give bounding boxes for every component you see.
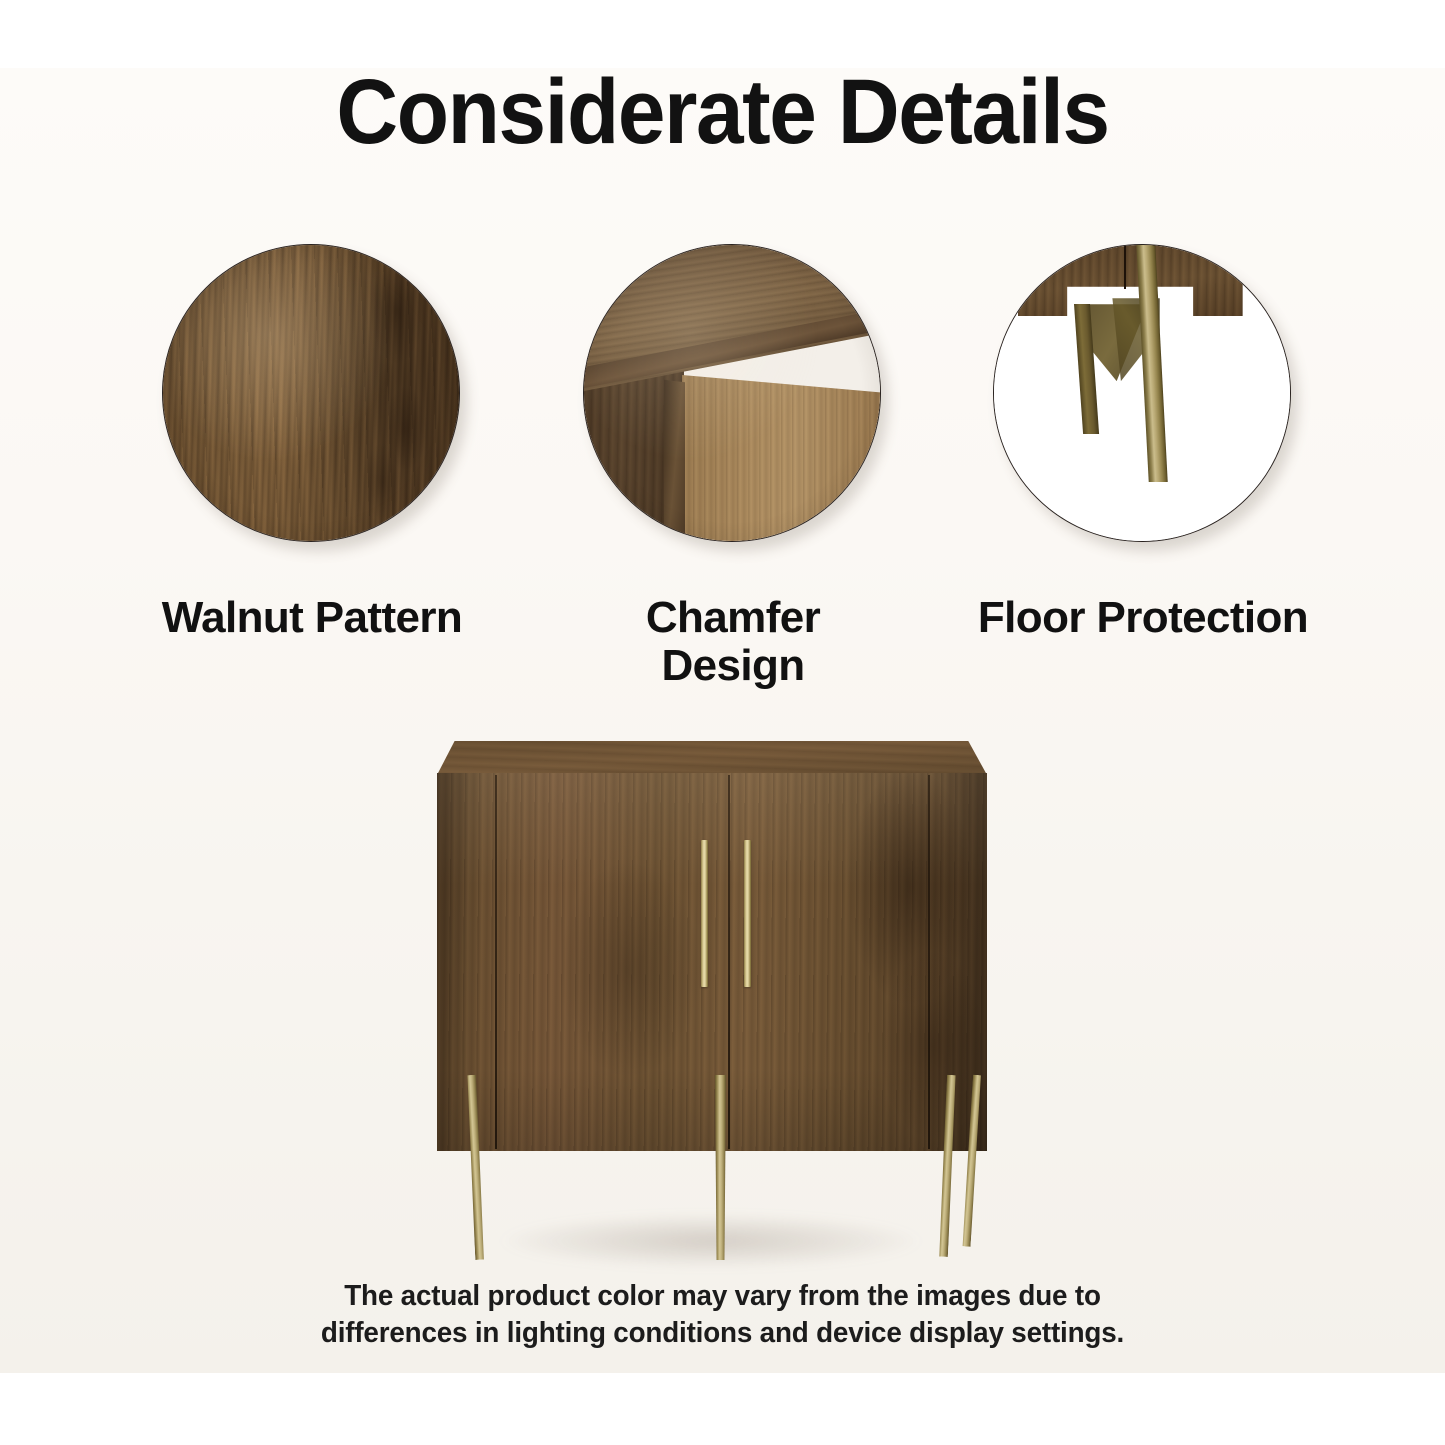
cabinet-underside-seam [1124,244,1126,289]
disclaimer-line-1: The actual product color may vary from t… [29,1278,1416,1315]
door-handle-right[interactable] [744,840,751,987]
cabinet-door-center-seam [728,775,730,1149]
disclaimer-line-2: differences in lighting conditions and d… [29,1315,1416,1352]
chamfer-front-face [682,375,881,542]
infographic-page: Considerate Details Walnut Pattern Chamf… [0,0,1445,1445]
chamfer-bevel-edge [664,380,685,542]
cabinet-top-surface [437,741,987,775]
feature-image-walnut-pattern [162,244,460,542]
cabinet-body [437,773,987,1151]
feature-label-floor-protection: Floor Protection [963,594,1323,642]
disclaimer-text: The actual product color may vary from t… [29,1278,1416,1352]
feature-floor-protection: Floor Protection [993,244,1293,642]
page-title: Considerate Details [51,66,1395,158]
product-image-cabinet [425,735,1000,1275]
feature-image-chamfer-design [583,244,881,542]
feature-label-line-1: Floor [978,593,1085,642]
feature-label-line-2: Protection [1097,593,1309,642]
feature-label-line-2: Design [661,641,804,690]
feature-label-line-1: Chamfer [646,593,820,642]
door-handle-left[interactable] [701,840,708,987]
cabinet-leg-rear-left [715,1075,726,1260]
feature-image-floor-protection [993,244,1291,542]
feature-label-walnut-pattern: Walnut Pattern [102,594,522,642]
cabinet-left-edge-seam [495,775,497,1149]
feature-label-chamfer-design: Chamfer Design [583,594,883,691]
cabinet-right-edge-seam [928,775,930,1149]
walnut-knot-detail [163,245,459,541]
cabinet-floor-shadow [431,1205,991,1277]
feature-chamfer-design: Chamfer Design [583,244,883,691]
feature-walnut-pattern: Walnut Pattern [162,244,462,642]
